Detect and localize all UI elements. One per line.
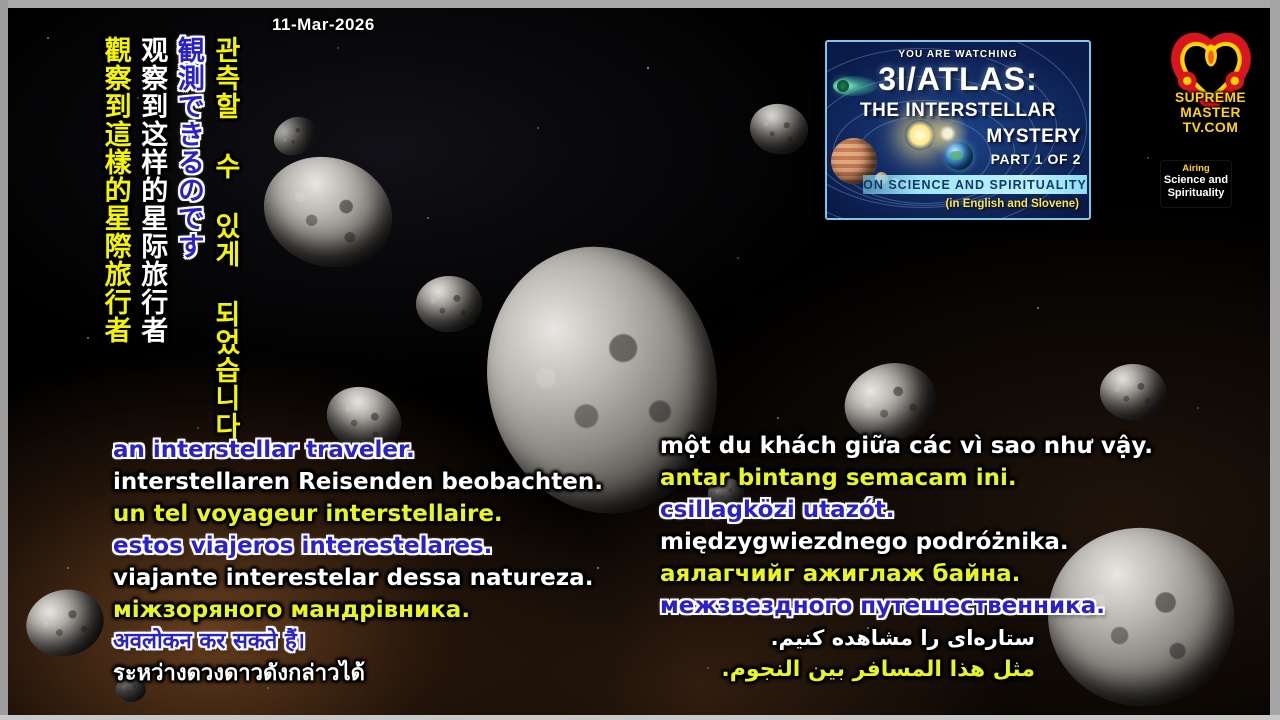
subtitle-mongolian: аялагчийг ажиглаж байна. xyxy=(660,558,1260,590)
asteroid-mid-left xyxy=(416,276,482,332)
subtitle-hungarian: csillagközi utazót. xyxy=(660,494,1260,526)
video-player-surface[interactable]: 11-Mar-2026 관측할 수 있게 되었습니다 観測できるのです 观察到这… xyxy=(8,8,1270,715)
subtitle-arabic: مثل هذا المسافر بين النجوم. xyxy=(660,654,1035,686)
subtitle-hindi: अवलोकन कर सकते हैं। xyxy=(113,626,653,658)
asteroid-far-right xyxy=(1100,364,1166,420)
subtitle-indonesian: antar bintang semacam ini. xyxy=(660,462,1260,494)
smtv-logo-line-2: TV.COM xyxy=(1148,120,1270,136)
window-chrome-left xyxy=(0,0,8,720)
window-chrome-bottom xyxy=(0,715,1280,720)
subtitle-german: interstellaren Reisenden beobachten. xyxy=(113,466,653,498)
subtitle-portuguese: viajante interestelar dessa natureza. xyxy=(113,562,653,594)
vertical-subtitle-chinese-simplified: 观察到这样的星际旅行者 xyxy=(133,36,170,344)
subtitle-english: an interstellar traveler. xyxy=(113,434,653,466)
subtitle-persian: ستاره‌ای را مشاهده کنیم. xyxy=(660,622,1035,654)
subtitle-russian: межзвездного путешественника. xyxy=(660,590,1260,622)
airing-program-line-2: Spirituality xyxy=(1161,187,1231,200)
vertical-subtitle-korean: 관측할 수 있게 되었습니다 xyxy=(206,36,243,440)
supreme-master-tv-logo[interactable]: SUPREME MASTER TV.COM xyxy=(1148,30,1270,160)
airing-program-line-1: Science and xyxy=(1161,174,1231,187)
broadcast-date: 11-Mar-2026 xyxy=(272,15,375,35)
banner-program-strip: ON SCIENCE AND SPIRITUALITY xyxy=(863,175,1087,194)
subtitle-ukrainian: міжзоряного мандрівника. xyxy=(113,594,653,626)
program-banner[interactable]: YOU ARE WATCHING 3I/ATLAS: THE INTERSTEL… xyxy=(825,40,1091,220)
vertical-subtitle-chinese-traditional: 觀察到這樣的星際旅行者 xyxy=(96,36,133,344)
banner-part-label: PART 1 OF 2 xyxy=(991,151,1081,167)
banner-title: 3I/ATLAS: xyxy=(827,61,1089,98)
banner-subtitle-line-2: MYSTERY xyxy=(986,126,1081,148)
subtitle-french: un tel voyageur interstellaire. xyxy=(113,498,653,530)
smtv-logo-line-1: SUPREME MASTER xyxy=(1147,90,1270,120)
subtitle-thai: ระหว่างดวงดาวดังกล่าวได้ xyxy=(113,658,653,690)
window-chrome-right xyxy=(1270,0,1280,720)
subtitle-vietnamese: một du khách giữa các vì sao như vậy. xyxy=(660,430,1260,462)
window-chrome-top xyxy=(0,0,1280,8)
subtitle-polish: międzygwiezdnego podróżnika. xyxy=(660,526,1260,558)
vertical-subtitle-japanese: 観測できるのです xyxy=(169,36,206,260)
banner-subtitle-line-1: THE INTERSTELLAR xyxy=(827,100,1089,122)
banner-languages-label: (in English and Slovene) xyxy=(945,198,1079,210)
airing-badge: Airing Science and Spirituality xyxy=(1160,160,1232,208)
smtv-logo-text: SUPREME MASTER TV.COM xyxy=(1148,90,1270,136)
banner-watching-label: YOU ARE WATCHING xyxy=(827,49,1089,60)
earth-icon xyxy=(945,142,973,170)
subtitle-spanish: estos viajeros interestelares. xyxy=(113,530,653,562)
sun-icon xyxy=(905,120,935,150)
window-frame: 11-Mar-2026 관측할 수 있게 되었습니다 観測できるのです 观察到这… xyxy=(0,0,1280,720)
vertical-subtitle-block: 관측할 수 있게 되었습니다 観測できるのです 观察到这样的星际旅行者 觀察到這… xyxy=(96,36,242,440)
airing-label: Airing xyxy=(1161,163,1231,174)
banner-program-strip-text: ON SCIENCE AND SPIRITUALITY xyxy=(863,178,1087,192)
subtitle-column-right: một du khách giữa các vì sao như vậy. an… xyxy=(660,430,1260,686)
subtitle-column-left: an interstellar traveler. interstellaren… xyxy=(113,434,653,690)
